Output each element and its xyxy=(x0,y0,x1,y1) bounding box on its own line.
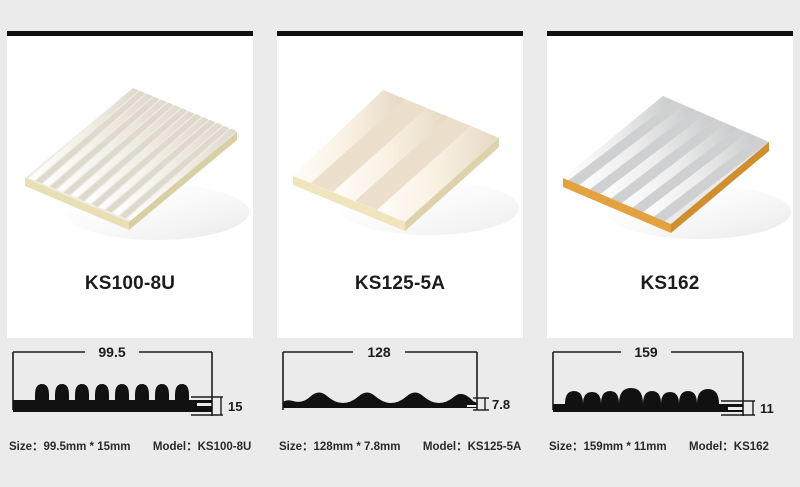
profile-block-ks125-5a: 128 7.8 Size：128mm * 7.8mm Model：KS125-5… xyxy=(277,338,523,487)
model-value: KS100-8U xyxy=(198,441,252,453)
dimension-width-label: 159 xyxy=(634,344,658,360)
size-label: Size： xyxy=(279,441,314,453)
product-photo-ks162 xyxy=(547,36,793,264)
size-value: 159mm * 11mm xyxy=(584,441,667,453)
product-card-ks100-8u[interactable]: KS100-8U xyxy=(7,31,253,338)
dimension-thickness-label: 15 xyxy=(228,399,242,414)
dimension-width-label: 99.5 xyxy=(98,344,125,360)
fluted-wall-panel-silver-icon xyxy=(547,36,793,264)
profile-diagram-row: 99.5 15 Size：99.5mm * 15mm Model：KS100-8… xyxy=(0,338,800,487)
size-value: 99.5mm * 15mm xyxy=(44,441,131,453)
product-title: KS125-5A xyxy=(355,273,445,295)
model-value: KS162 xyxy=(734,441,769,453)
panel-cross-section-u-groove-icon: 99.5 15 xyxy=(7,338,253,436)
model-value: KS125-5A xyxy=(468,441,522,453)
panel-cross-section-wave-icon: 128 7.8 xyxy=(277,338,523,436)
dimension-thickness-label: 7.8 xyxy=(492,397,510,412)
model-label: Model： xyxy=(689,441,734,453)
profile-block-ks100-8u: 99.5 15 Size：99.5mm * 15mm Model：KS100-8… xyxy=(7,338,253,487)
product-card-ks162[interactable]: KS162 xyxy=(547,31,793,338)
product-title: KS100-8U xyxy=(85,273,175,295)
size-label: Size： xyxy=(9,441,44,453)
cross-section-shape xyxy=(553,388,743,412)
fluted-wall-panel-white-icon xyxy=(7,36,253,264)
cross-section-shape xyxy=(13,384,212,412)
panel-cross-section-round-wave-icon: 159 11 xyxy=(547,338,793,436)
product-spec-line: Size：128mm * 7.8mm Model：KS125-5A xyxy=(279,438,521,454)
product-card-row: KS100-8U xyxy=(0,0,800,338)
fluted-wall-panel-beige-icon xyxy=(277,36,523,264)
model-label: Model： xyxy=(423,441,468,453)
product-photo-ks125-5a xyxy=(277,36,523,264)
product-spec-line: Size：159mm * 11mm Model：KS162 xyxy=(549,438,769,454)
dimension-width-label: 128 xyxy=(367,344,391,360)
product-photo-ks100-8u xyxy=(7,36,253,264)
dimension-thickness-label: 11 xyxy=(760,401,774,416)
product-title: KS162 xyxy=(640,273,699,295)
size-value: 128mm * 7.8mm xyxy=(314,441,401,453)
profile-block-ks162: 159 11 Size：159mm * 11mm Model：KS162 xyxy=(547,338,793,487)
cross-section-shape xyxy=(283,393,477,409)
size-label: Size： xyxy=(549,441,584,453)
product-spec-line: Size：99.5mm * 15mm Model：KS100-8U xyxy=(9,438,251,454)
product-card-ks125-5a[interactable]: KS125-5A xyxy=(277,31,523,338)
model-label: Model： xyxy=(153,441,198,453)
